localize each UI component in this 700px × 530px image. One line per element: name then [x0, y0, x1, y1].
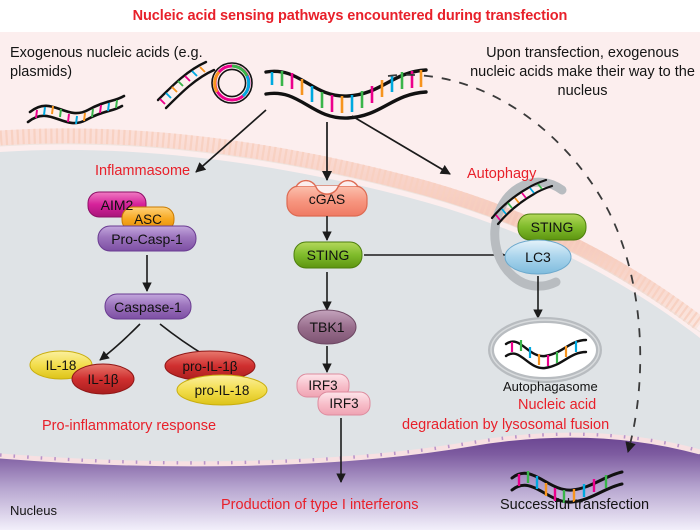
node-tbk1[interactable]: TBK1 [298, 313, 356, 341]
pathway-label-autophagy: Autophagy [467, 166, 536, 182]
outcome-interferons: Production of type I interferons [221, 497, 418, 513]
diagram-canvas: Nucleic acid sensing pathways encountere… [0, 0, 700, 530]
node-irf3-b[interactable]: IRF3 [318, 392, 370, 415]
outcome-degradation-line2: degradation by lysosomal fusion [402, 417, 609, 433]
node-lc3[interactable]: LC3 [508, 244, 568, 270]
node-pro-il-18[interactable]: pro-IL-18 [177, 377, 267, 403]
node-sting[interactable]: STING [294, 242, 362, 268]
pathway-label-inflammasome: Inflammasome [95, 163, 190, 179]
node-pro-casp-1[interactable]: Pro-Casp-1 [98, 226, 196, 251]
page-title: Nucleic acid sensing pathways encountere… [0, 8, 700, 24]
outcome-degradation-line1: Nucleic acid [518, 397, 596, 413]
node-sting-autophagy[interactable]: STING [518, 214, 586, 240]
label-nucleus: Nucleus [10, 503, 57, 518]
node-caspase-1[interactable]: Caspase-1 [105, 294, 191, 319]
caption-top-left: Exogenous nucleic acids (e.g. plasmids) [10, 44, 220, 82]
outcome-pro-inflammatory: Pro-inflammatory response [42, 418, 216, 434]
caption-top-right: Upon transfection, exogenous nucleic aci… [470, 44, 695, 101]
node-cgas[interactable]: cGAS [296, 185, 358, 213]
node-pro-il-1b[interactable]: pro-IL-1β [165, 353, 255, 379]
label-autophagosome: Autophagasome [503, 379, 598, 394]
outcome-successful-transfection: Successful transfection [500, 497, 649, 513]
node-il-1b[interactable]: IL-1β [72, 366, 134, 392]
autophagosome-shape [491, 320, 599, 380]
